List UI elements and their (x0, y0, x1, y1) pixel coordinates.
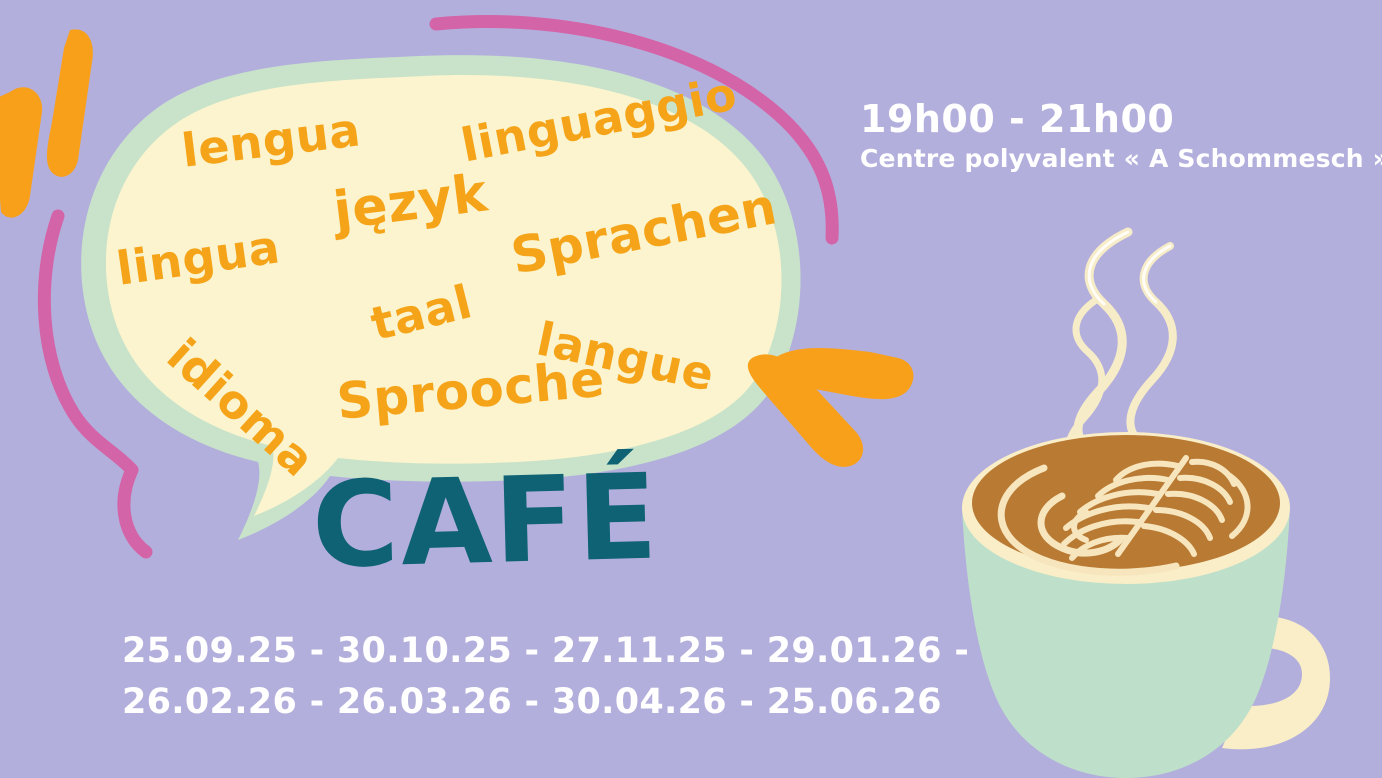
event-info: 19h00 - 21h00 Centre polyvalent « A Scho… (860, 100, 1382, 174)
event-time: 19h00 - 21h00 (860, 100, 1382, 140)
page-title: CAFÉ (311, 457, 661, 584)
event-dates-line-2: 26.02.26 - 26.03.26 - 30.04.26 - 25.06.2… (122, 677, 969, 728)
coffee-surface (972, 435, 1280, 571)
event-dates: 25.09.25 - 30.10.25 - 27.11.25 - 29.01.2… (122, 626, 969, 728)
poster: lengua linguaggio język Sprachen lingua … (0, 0, 1382, 778)
event-dates-line-1: 25.09.25 - 30.10.25 - 27.11.25 - 29.01.2… (122, 626, 969, 677)
event-venue: Centre polyvalent « A Schommesch » (860, 144, 1382, 174)
